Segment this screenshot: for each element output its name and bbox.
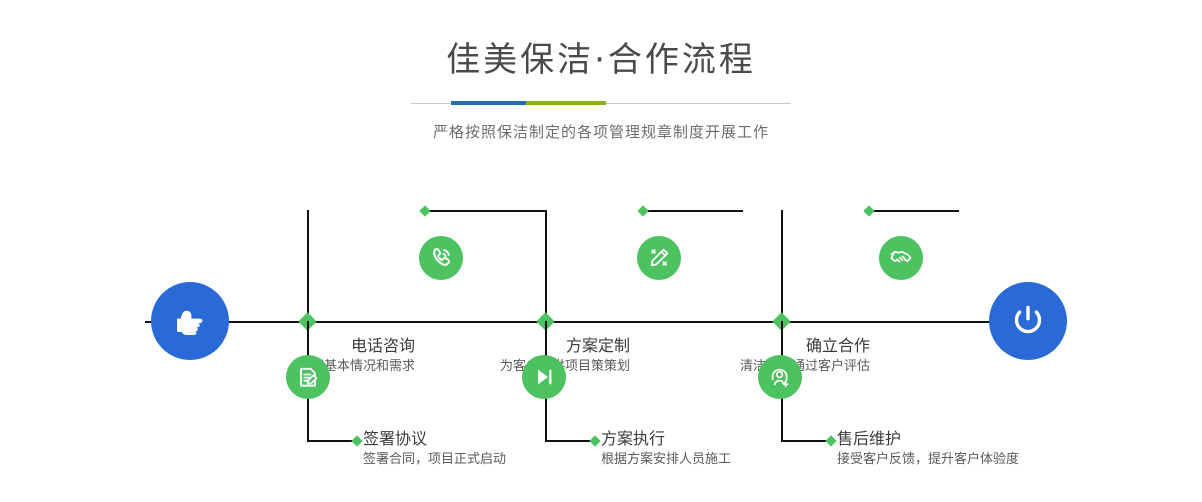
header: 佳美保洁·合作流程 严格按照保洁制定的各项管理规章制度开展工作 — [0, 0, 1202, 142]
timeline-axis — [145, 321, 1057, 323]
step-6-label: 售后维护 接受客户反馈，提升客户体验度 — [837, 428, 1137, 470]
step-6-icon-badge — [758, 355, 802, 399]
step-1-icon-badge — [419, 236, 463, 280]
power-icon — [1006, 299, 1050, 343]
divider-segment-green — [526, 101, 606, 105]
step-6-title: 售后维护 — [837, 428, 1137, 450]
step-5-desc: 清洁方案通过客户评估 — [580, 357, 870, 377]
step-3-stem — [545, 210, 547, 322]
headset-support-icon — [767, 364, 793, 390]
step-2-label-marker — [351, 435, 362, 446]
handshake-icon — [888, 245, 914, 271]
step-5-title: 确立合作 — [580, 335, 870, 357]
step-1-arm — [425, 210, 545, 212]
step-5-stem — [781, 210, 783, 322]
step-2-icon-badge — [286, 355, 330, 399]
step-6-desc: 接受客户反馈，提升客户体验度 — [837, 450, 1137, 470]
step-1-stem — [307, 210, 309, 322]
step-3-arm — [643, 210, 743, 212]
step-3-icon-badge — [637, 236, 681, 280]
infographic-root: 佳美保洁·合作流程 严格按照保洁制定的各项管理规章制度开展工作 — [0, 0, 1202, 502]
process-flow-diagram: 电话咨询 阐明基本情况和需求 签署协议 签署合同，项目正式启动 — [0, 150, 1202, 502]
step-6-arm — [781, 440, 831, 442]
step-5-icon-badge — [879, 236, 923, 280]
page-subtitle: 严格按照保洁制定的各项管理规章制度开展工作 — [0, 121, 1202, 142]
title-divider — [411, 99, 791, 109]
phone-call-icon — [428, 245, 454, 271]
step-4-icon-badge — [522, 355, 566, 399]
play-execute-icon — [531, 364, 557, 390]
step-5-label: 确立合作 清洁方案通过客户评估 — [580, 335, 870, 377]
flow-end-node — [989, 282, 1067, 360]
divider-segment-blue — [451, 101, 526, 105]
step-5-label-marker — [863, 205, 874, 216]
step-3-label-marker — [637, 205, 648, 216]
document-sign-icon — [295, 364, 321, 390]
page-title: 佳美保洁·合作流程 — [0, 0, 1202, 81]
step-2-arm — [307, 440, 357, 442]
step-4-arm — [545, 440, 595, 442]
step-5-arm — [869, 210, 959, 212]
pencil-design-icon — [646, 245, 672, 271]
step-1-label-marker — [419, 205, 430, 216]
